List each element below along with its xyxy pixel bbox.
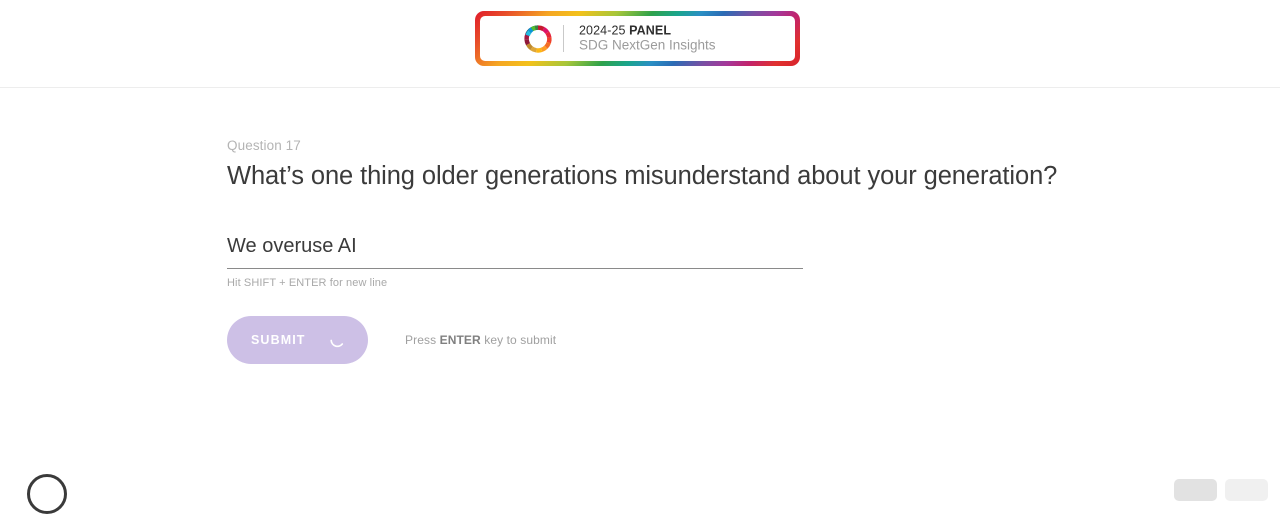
page-title: What’s one thing older generations misun… bbox=[227, 161, 1127, 193]
logo-subtitle: SDG NextGen Insights bbox=[579, 38, 716, 54]
answer-block: Hit SHIFT + ENTER for new line bbox=[227, 235, 803, 289]
answer-hint-text: Hit SHIFT + ENTER for new line bbox=[227, 277, 803, 289]
sdg-color-wheel-icon bbox=[523, 24, 553, 54]
submit-row: SUBMIT Press ENTER key to submit bbox=[227, 316, 556, 364]
logo-panel-label: PANEL bbox=[629, 23, 671, 37]
submit-hint-prefix: Press bbox=[405, 333, 440, 347]
logo-year-label: 2024-25 bbox=[579, 23, 629, 37]
submit-hint-key: ENTER bbox=[440, 333, 481, 347]
question-number-label: Question 17 bbox=[227, 138, 1127, 153]
logo-text-block: 2024-25 PANEL SDG NextGen Insights bbox=[579, 23, 716, 54]
logo-divider bbox=[563, 25, 564, 52]
page-header: 2024-25 PANEL SDG NextGen Insights bbox=[0, 0, 1280, 88]
panel-logo-badge: 2024-25 PANEL SDG NextGen Insights bbox=[475, 11, 800, 66]
logo-title-line: 2024-25 PANEL bbox=[579, 23, 716, 38]
submit-hint-text: Press ENTER key to submit bbox=[405, 333, 556, 347]
logo-inner-panel: 2024-25 PANEL SDG NextGen Insights bbox=[480, 16, 795, 61]
submit-button[interactable]: SUBMIT bbox=[227, 316, 368, 364]
navigation-buttons bbox=[1174, 479, 1268, 501]
loading-spinner-icon bbox=[329, 332, 346, 349]
answer-input[interactable] bbox=[227, 235, 803, 269]
submit-button-label: SUBMIT bbox=[251, 333, 306, 347]
nav-next-button[interactable] bbox=[1225, 479, 1268, 501]
nav-prev-button[interactable] bbox=[1174, 479, 1217, 501]
submit-hint-suffix: key to submit bbox=[481, 333, 556, 347]
help-bubble-icon[interactable] bbox=[27, 474, 67, 514]
question-form: Question 17 What’s one thing older gener… bbox=[227, 138, 1127, 193]
